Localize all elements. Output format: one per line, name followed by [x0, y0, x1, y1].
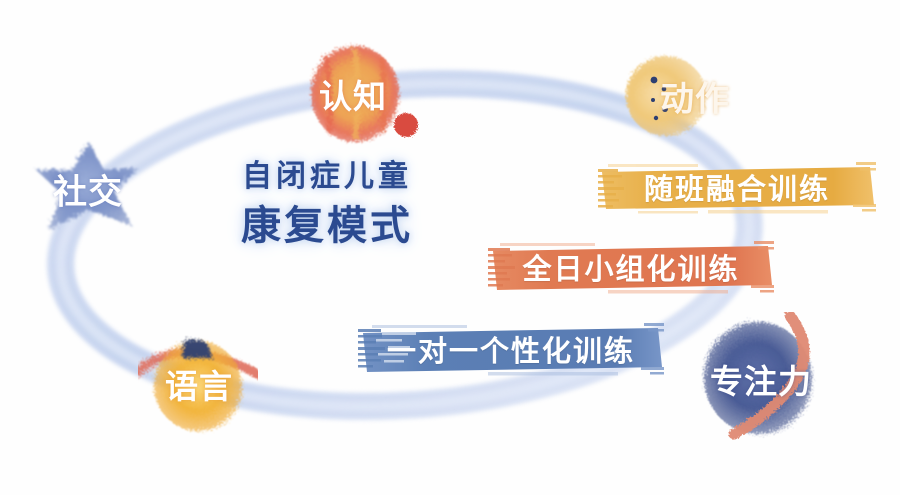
node-cognition[interactable]: 认知 [296, 38, 414, 150]
node-social[interactable]: 社交 [28, 138, 150, 240]
node-label: 认知 [292, 70, 414, 118]
page-title-line1: 自闭症儿童 [212, 158, 442, 196]
banner-label: 全日小组化训练 [522, 246, 739, 288]
infographic-canvas: 自闭症儿童 康复模式 [0, 0, 900, 495]
banner-inclusive-training[interactable]: 随班融合训练 [598, 160, 876, 214]
banner-label: 一对一个性化训练 [387, 328, 635, 370]
node-label: 专注力 [692, 355, 830, 403]
node-label: 动作 [642, 72, 748, 121]
node-label: 语言 [140, 360, 258, 408]
node-label: 社交 [26, 165, 150, 214]
banner-fullday-group-training[interactable]: 全日小组化训练 [488, 240, 774, 294]
node-attention[interactable]: 专注力 [690, 312, 830, 446]
banner-one-to-one-training[interactable]: 一对一个性化训练 [358, 322, 664, 376]
node-motor-skills[interactable]: 动作 [622, 48, 748, 144]
node-language[interactable]: 语言 [138, 332, 258, 436]
page-title: 自闭症儿童 康复模式 [212, 158, 442, 251]
banner-label: 随班融合训练 [644, 166, 830, 208]
page-title-line2: 康复模式 [212, 201, 442, 251]
